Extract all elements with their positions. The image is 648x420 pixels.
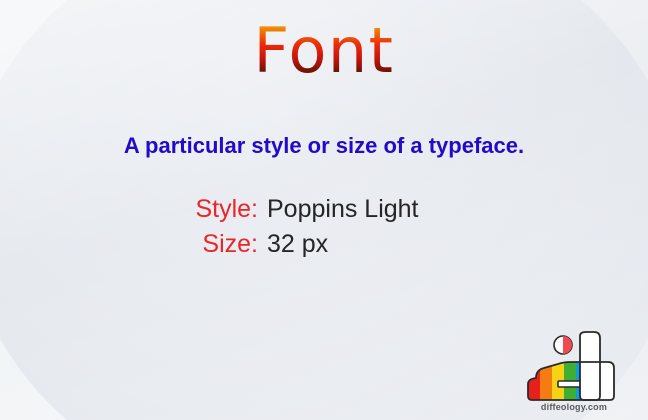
spec-value-style: Poppins Light <box>267 195 419 224</box>
definition-text: A particular style or size of a typeface… <box>124 133 524 159</box>
spec-value-size: 32 px <box>267 230 328 259</box>
definition-container: A particular style or size of a typeface… <box>0 133 648 159</box>
logo-ball-half <box>563 336 572 354</box>
watermark-text: diffeology.com <box>518 402 630 412</box>
spec-label-style: Style: <box>174 195 258 224</box>
rainbow-d-logo-icon <box>518 326 630 414</box>
spec-list: Style: Poppins Light Size: 32 px <box>0 195 648 259</box>
spec-label-size: Size: <box>174 230 258 259</box>
watermark-logo: diffeology.com <box>518 326 630 414</box>
title-container: Font <box>0 17 648 85</box>
page-title: Font <box>254 17 395 85</box>
slide-canvas: Font A particular style or size of a typ… <box>0 0 648 420</box>
logo-stem <box>580 332 600 400</box>
spec-row-size: Size: 32 px <box>174 230 474 259</box>
spec-row-style: Style: Poppins Light <box>174 195 474 224</box>
